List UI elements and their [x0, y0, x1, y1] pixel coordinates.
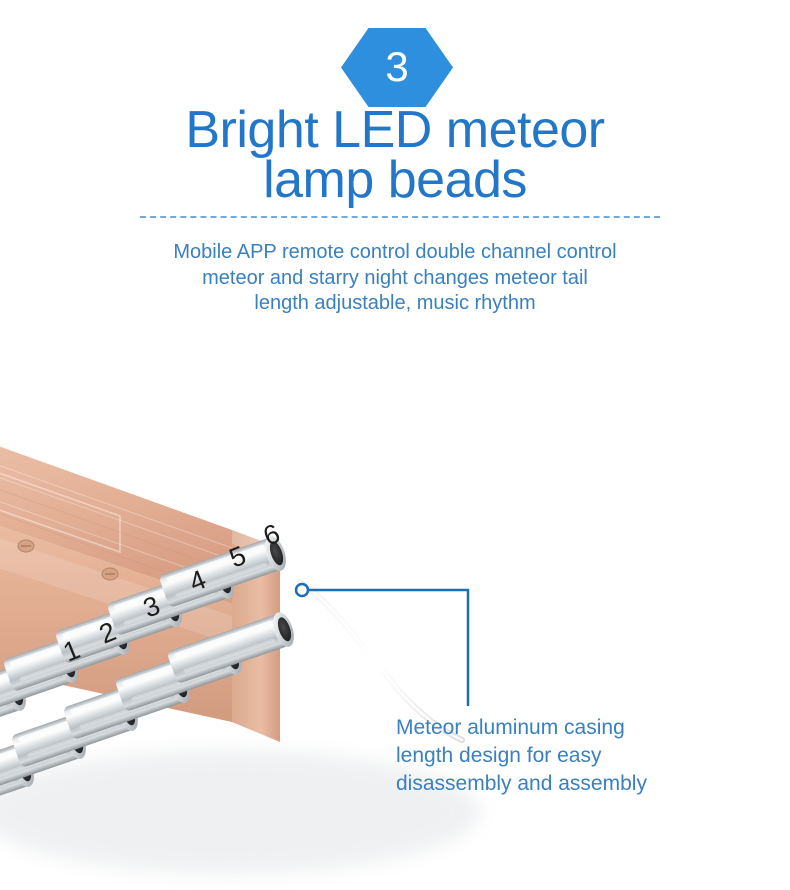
- callout-caption-line-3: disassembly and assembly: [396, 770, 746, 798]
- callout-caption-line-2: length design for easy: [396, 742, 746, 770]
- section-divider: [140, 216, 660, 218]
- page-title: Bright LED meteor lamp beads: [0, 106, 790, 206]
- page-title-line-2: lamp beads: [0, 156, 790, 206]
- callout-caption-line-1: Meteor aluminum casing: [396, 714, 746, 742]
- product-infographic-page: 3 Bright LED meteor lamp beads Mobile AP…: [0, 0, 790, 890]
- callout-caption: Meteor aluminum casing length design for…: [396, 714, 746, 798]
- step-badge: 3: [340, 27, 454, 108]
- page-title-line-1: Bright LED meteor: [0, 106, 790, 156]
- step-badge-number: 3: [340, 27, 454, 108]
